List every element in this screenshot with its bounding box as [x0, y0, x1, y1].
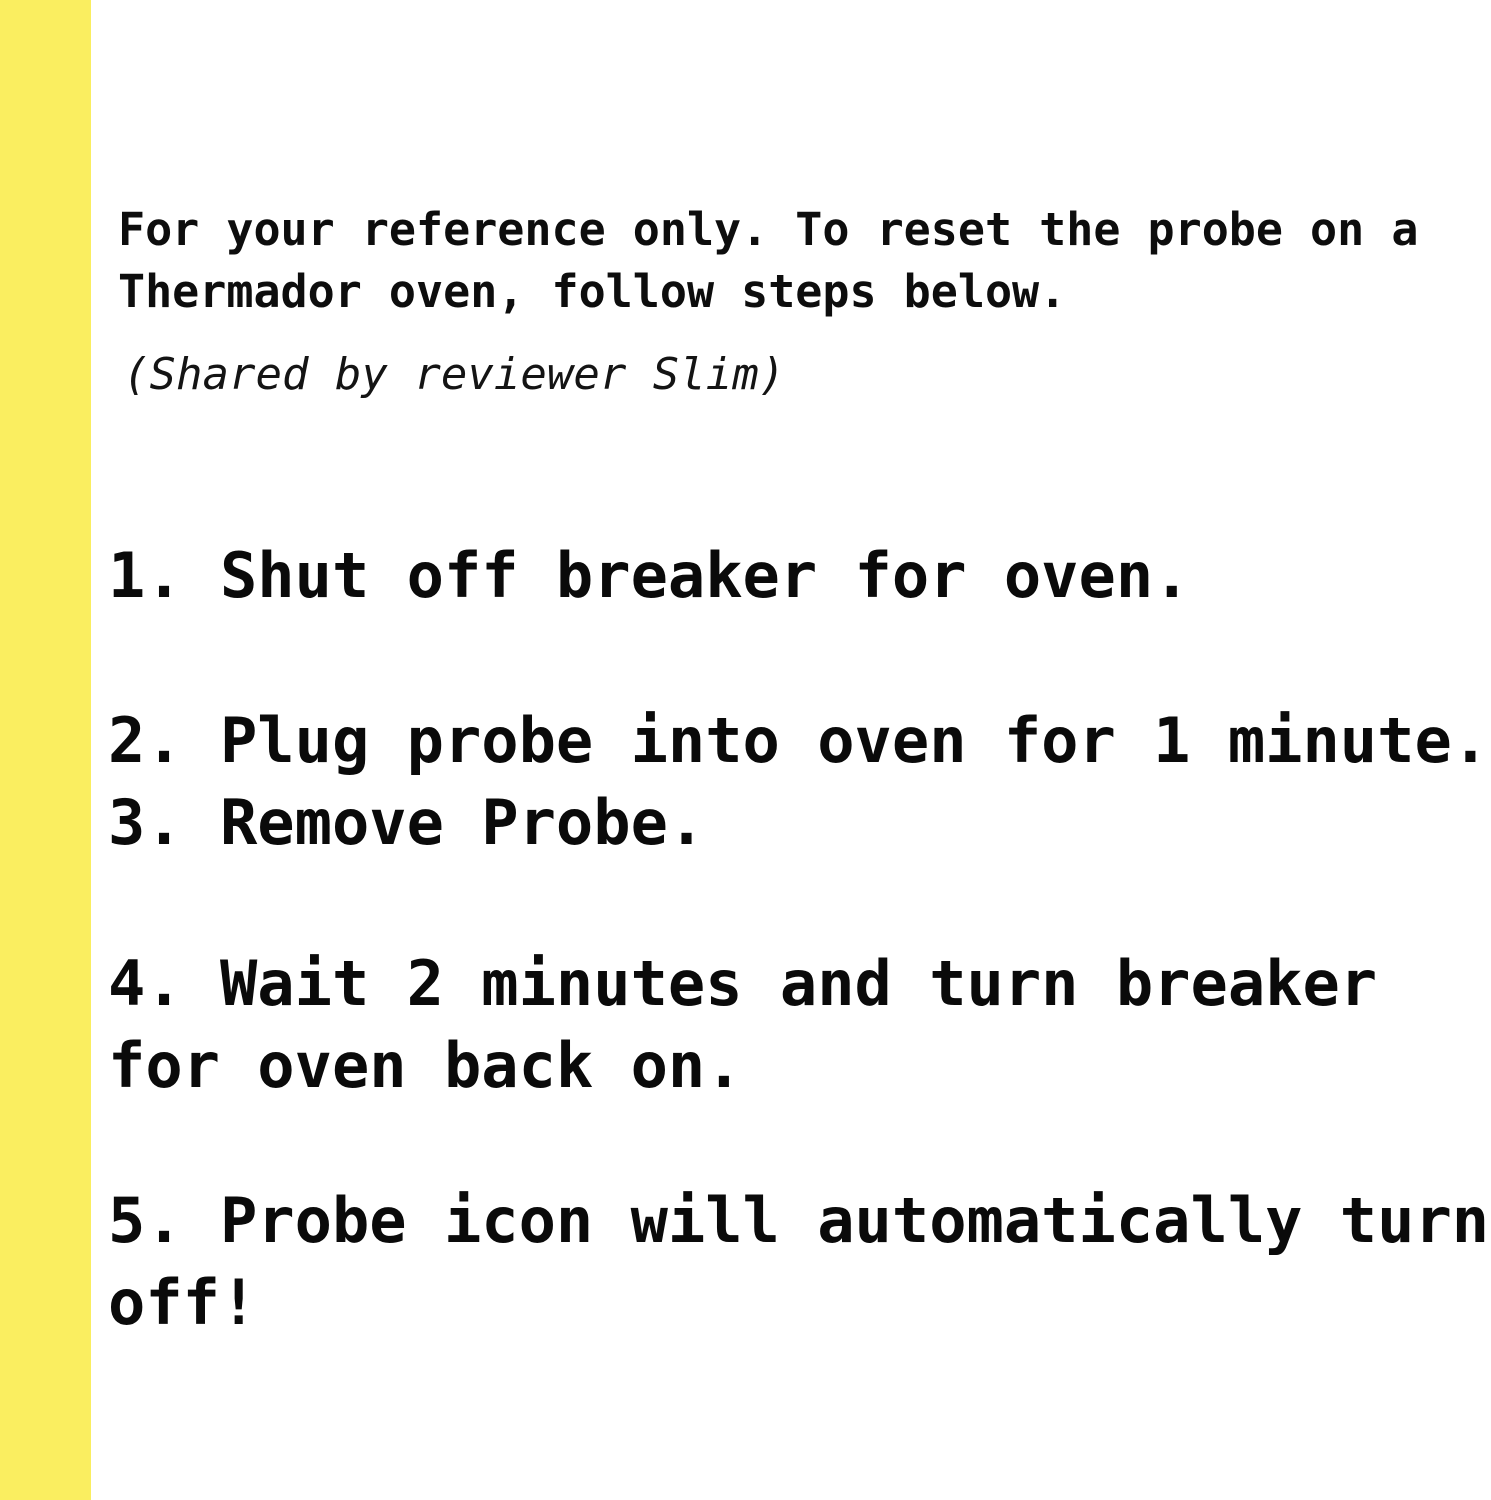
document-content: For your reference only. To reset the pr…: [91, 0, 1491, 1500]
step-2-line-1: 2. Plug probe into oven for 1 minute.: [108, 704, 1489, 777]
attribution-note: (Shared by reviewer Slim): [123, 346, 785, 404]
step-4-line-1: 4. Wait 2 minutes and turn breaker: [108, 947, 1377, 1020]
step-1-line-1: 1. Shut off breaker for oven.: [108, 539, 1191, 612]
document-page: MaxRed For your reference only. To reset…: [0, 0, 1491, 1500]
step-4-line-2: for oven back on.: [108, 1025, 1377, 1107]
intro-paragraph: For your reference only. To reset the pr…: [118, 199, 1491, 323]
step-item-2: 2. Plug probe into oven for 1 minute.: [108, 700, 1489, 782]
intro-line-1: For your reference only. To reset the pr…: [118, 203, 1418, 256]
brand-watermark-bar: MaxRed: [0, 0, 91, 1500]
intro-line-2: Thermador oven, follow steps below.: [118, 261, 1491, 323]
step-item-1: 1. Shut off breaker for oven.: [108, 535, 1191, 617]
step-item-4: 4. Wait 2 minutes and turn breaker for o…: [108, 943, 1377, 1107]
step-5-line-2: off!: [108, 1262, 1489, 1344]
step-3-line-1: 3. Remove Probe.: [108, 786, 705, 859]
step-5-line-1: 5. Probe icon will automatically turn: [108, 1184, 1489, 1257]
step-item-3: 3. Remove Probe.: [108, 782, 705, 864]
step-item-5: 5. Probe icon will automatically turn of…: [108, 1180, 1489, 1344]
